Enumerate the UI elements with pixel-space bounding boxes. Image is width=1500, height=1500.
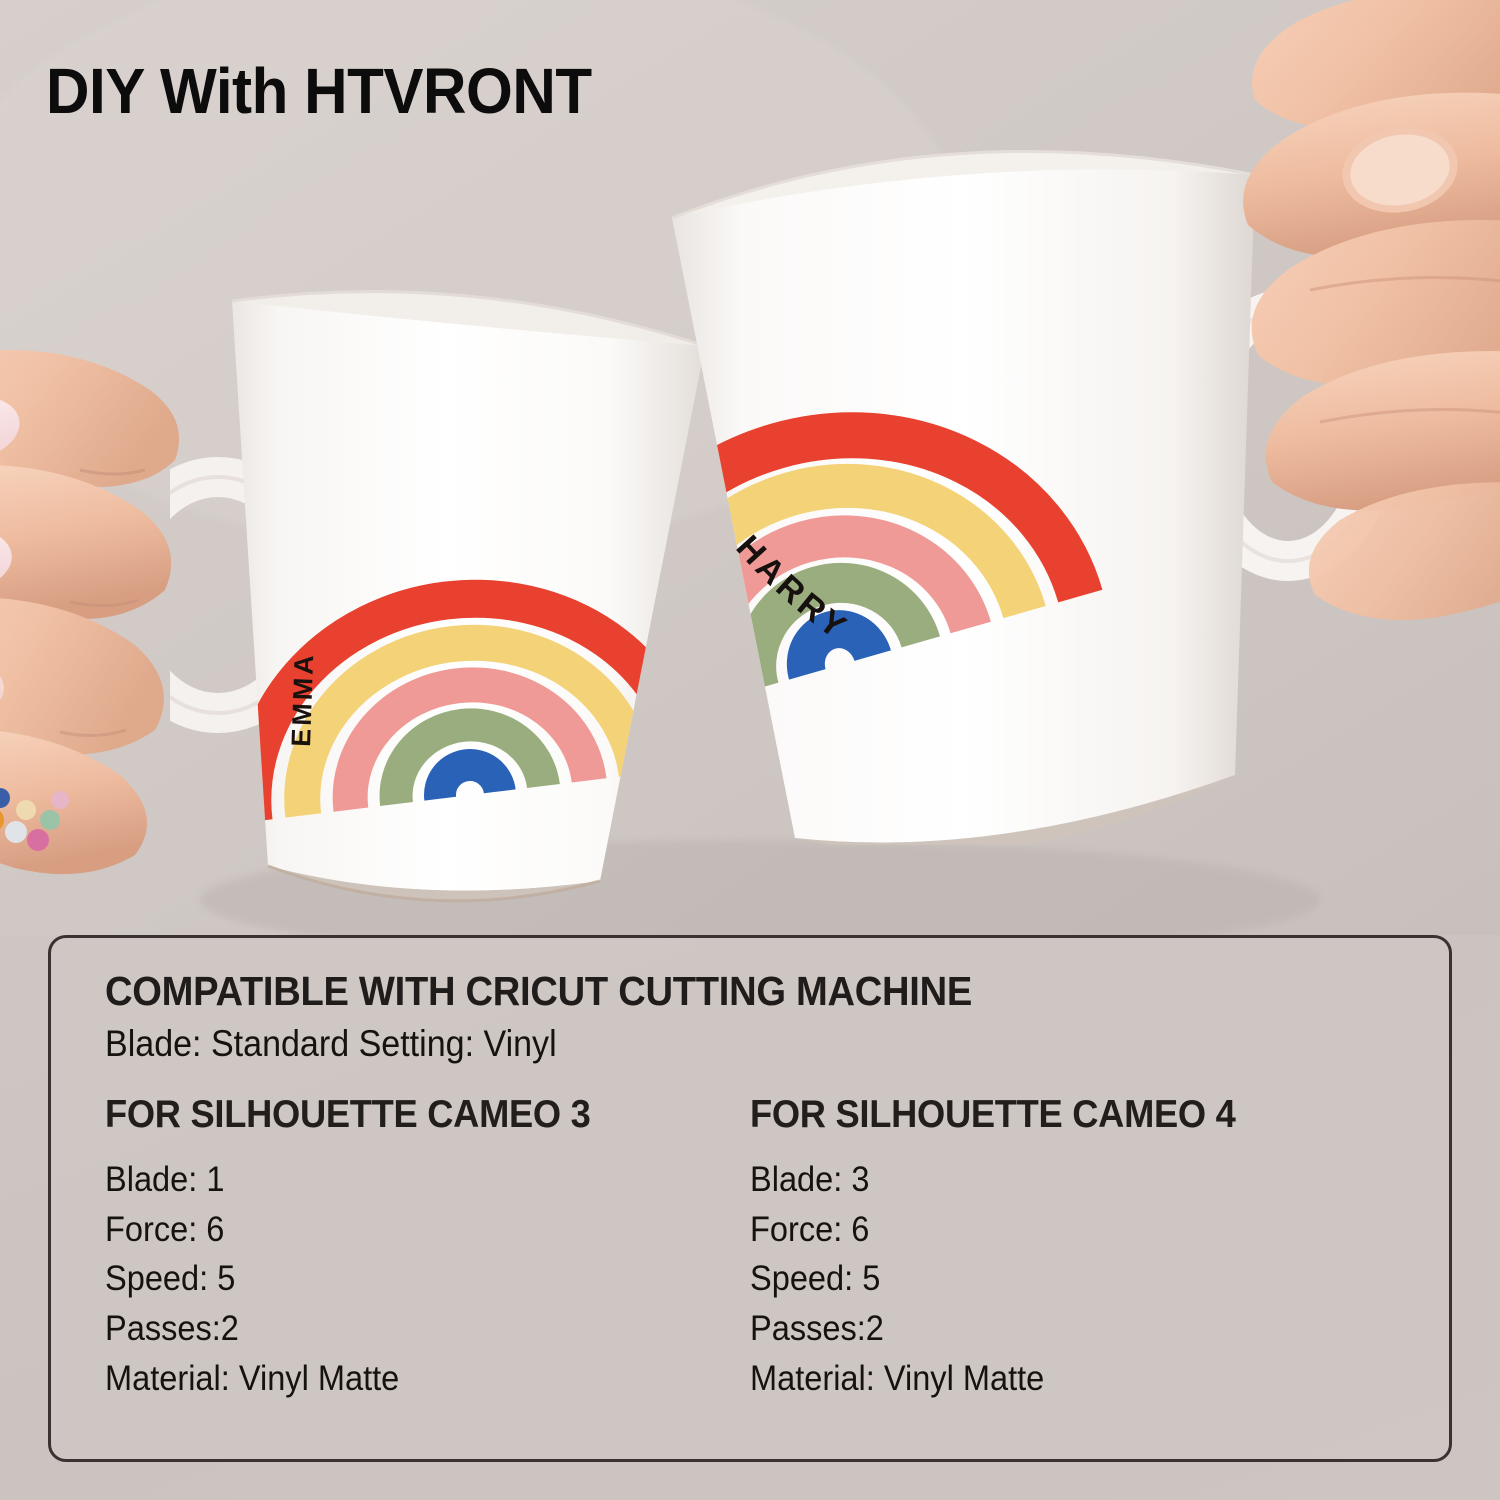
setting-row: Blade: 3 bbox=[750, 1155, 1350, 1205]
setting-row: Force: 6 bbox=[750, 1205, 1350, 1255]
panel-columns: FOR SILHOUETTE CAMEO 3 Blade: 1 Force: 6… bbox=[105, 1093, 1395, 1403]
setting-row: Material: Vinyl Matte bbox=[105, 1354, 705, 1404]
right-hand bbox=[1210, 0, 1500, 650]
column-title: FOR SILHOUETTE CAMEO 3 bbox=[105, 1093, 705, 1137]
setting-row: Passes:2 bbox=[750, 1304, 1350, 1354]
setting-row: Material: Vinyl Matte bbox=[750, 1354, 1350, 1404]
compatibility-panel: COMPATIBLE WITH CRICUT CUTTING MACHINE B… bbox=[48, 935, 1452, 1462]
product-photo: EMMA bbox=[0, 0, 1500, 935]
column-title: FOR SILHOUETTE CAMEO 4 bbox=[750, 1093, 1350, 1137]
setting-row: Speed: 5 bbox=[105, 1254, 705, 1304]
panel-heading: COMPATIBLE WITH CRICUT CUTTING MACHINE bbox=[105, 968, 1305, 1015]
setting-row: Blade: 1 bbox=[105, 1155, 705, 1205]
page-title: DIY With HTVRONT bbox=[46, 54, 592, 128]
column-cameo-4: FOR SILHOUETTE CAMEO 4 Blade: 3 Force: 6… bbox=[750, 1093, 1395, 1403]
panel-subheading: Blade: Standard Setting: Vinyl bbox=[105, 1023, 1292, 1065]
product-image: EMMA bbox=[0, 0, 1500, 1500]
right-hand-shape bbox=[1243, 0, 1500, 620]
setting-row: Force: 6 bbox=[105, 1205, 705, 1255]
setting-row: Speed: 5 bbox=[750, 1254, 1350, 1304]
setting-row: Passes:2 bbox=[105, 1304, 705, 1354]
column-cameo-3: FOR SILHOUETTE CAMEO 3 Blade: 1 Force: 6… bbox=[105, 1093, 750, 1403]
left-hand-shape bbox=[0, 350, 179, 874]
mug-left-name-label: EMMA bbox=[286, 652, 319, 747]
